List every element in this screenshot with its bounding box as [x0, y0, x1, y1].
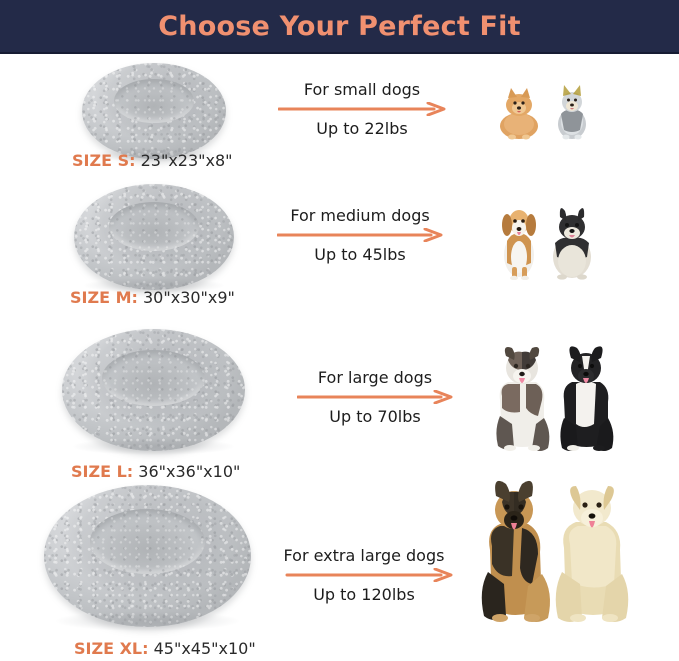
header-bar: Choose Your Perfect Fit [0, 0, 679, 54]
dog-golden-retriever [556, 486, 629, 622]
dog-border-collie [560, 346, 613, 451]
right-arrow-icon-m [277, 228, 443, 242]
arrow-block-m: For medium dogs Up to 45lbs [277, 206, 443, 264]
bed-inner-cavity [102, 350, 204, 406]
page-title: Choose Your Perfect Fit [158, 11, 520, 42]
dog-pair-xl [466, 472, 634, 630]
arrow-top-text-xl: For extra large dogs [284, 546, 445, 565]
size-label-m: SIZE M: 30"x30"x9" [70, 288, 235, 307]
dog-yorkshire-terrier [558, 85, 586, 139]
arrow-bottom-text-s: Up to 22lbs [316, 119, 407, 138]
dog-bed-illustration-s [82, 63, 226, 159]
size-label-xl: SIZE XL: 45"x45"x10" [74, 639, 256, 658]
arrow-top-text-s: For small dogs [304, 80, 420, 99]
dog-pomeranian [500, 88, 538, 140]
bed-drop-shadow [73, 438, 234, 455]
dog-german-shepherd [482, 481, 550, 622]
bed-drop-shadow [56, 611, 238, 631]
arrow-bottom-text-l: Up to 70lbs [329, 407, 420, 426]
bed-inner-fur-texture [109, 202, 199, 251]
dog-bed-illustration-xl [44, 485, 251, 627]
size-value-xl: 45"x45"x10" [154, 639, 256, 658]
bed-inner-cavity [109, 202, 199, 251]
dog-australian-shepherd [496, 347, 549, 451]
dog-bed-illustration-m [74, 184, 234, 290]
arrow-top-text-m: For medium dogs [290, 206, 429, 225]
dog-pair-m [487, 195, 607, 280]
size-key-m: SIZE M: [70, 288, 138, 307]
dog-bed-illustration-l [62, 329, 245, 451]
size-key-xl: SIZE XL: [74, 639, 149, 658]
size-label-s: SIZE S: 23"x23"x8" [72, 151, 233, 170]
size-value-s: 23"x23"x8" [141, 151, 233, 170]
arrow-top-text-l: For large dogs [318, 368, 432, 387]
size-value-m: 30"x30"x9" [143, 288, 235, 307]
dog-french-bulldog [553, 208, 591, 280]
bed-inner-fur-texture [102, 350, 204, 406]
arrow-block-l: For large dogs Up to 70lbs [297, 368, 453, 426]
right-arrow-icon-l [297, 390, 453, 404]
right-arrow-icon-xl [275, 568, 453, 582]
dog-pair-s [492, 78, 602, 140]
size-key-s: SIZE S: [72, 151, 136, 170]
dog-beagle [502, 210, 536, 280]
arrow-block-xl: For extra large dogs Up to 120lbs [275, 546, 453, 604]
arrow-bottom-text-xl: Up to 120lbs [313, 585, 415, 604]
right-arrow-icon-s [278, 102, 446, 116]
arrow-block-s: For small dogs Up to 22lbs [278, 80, 446, 138]
arrow-bottom-text-m: Up to 45lbs [314, 245, 405, 264]
size-guide-infographic: Choose Your Perfect Fit SIZE S: 23"x23"x… [0, 0, 679, 661]
dog-pair-l [478, 338, 628, 456]
